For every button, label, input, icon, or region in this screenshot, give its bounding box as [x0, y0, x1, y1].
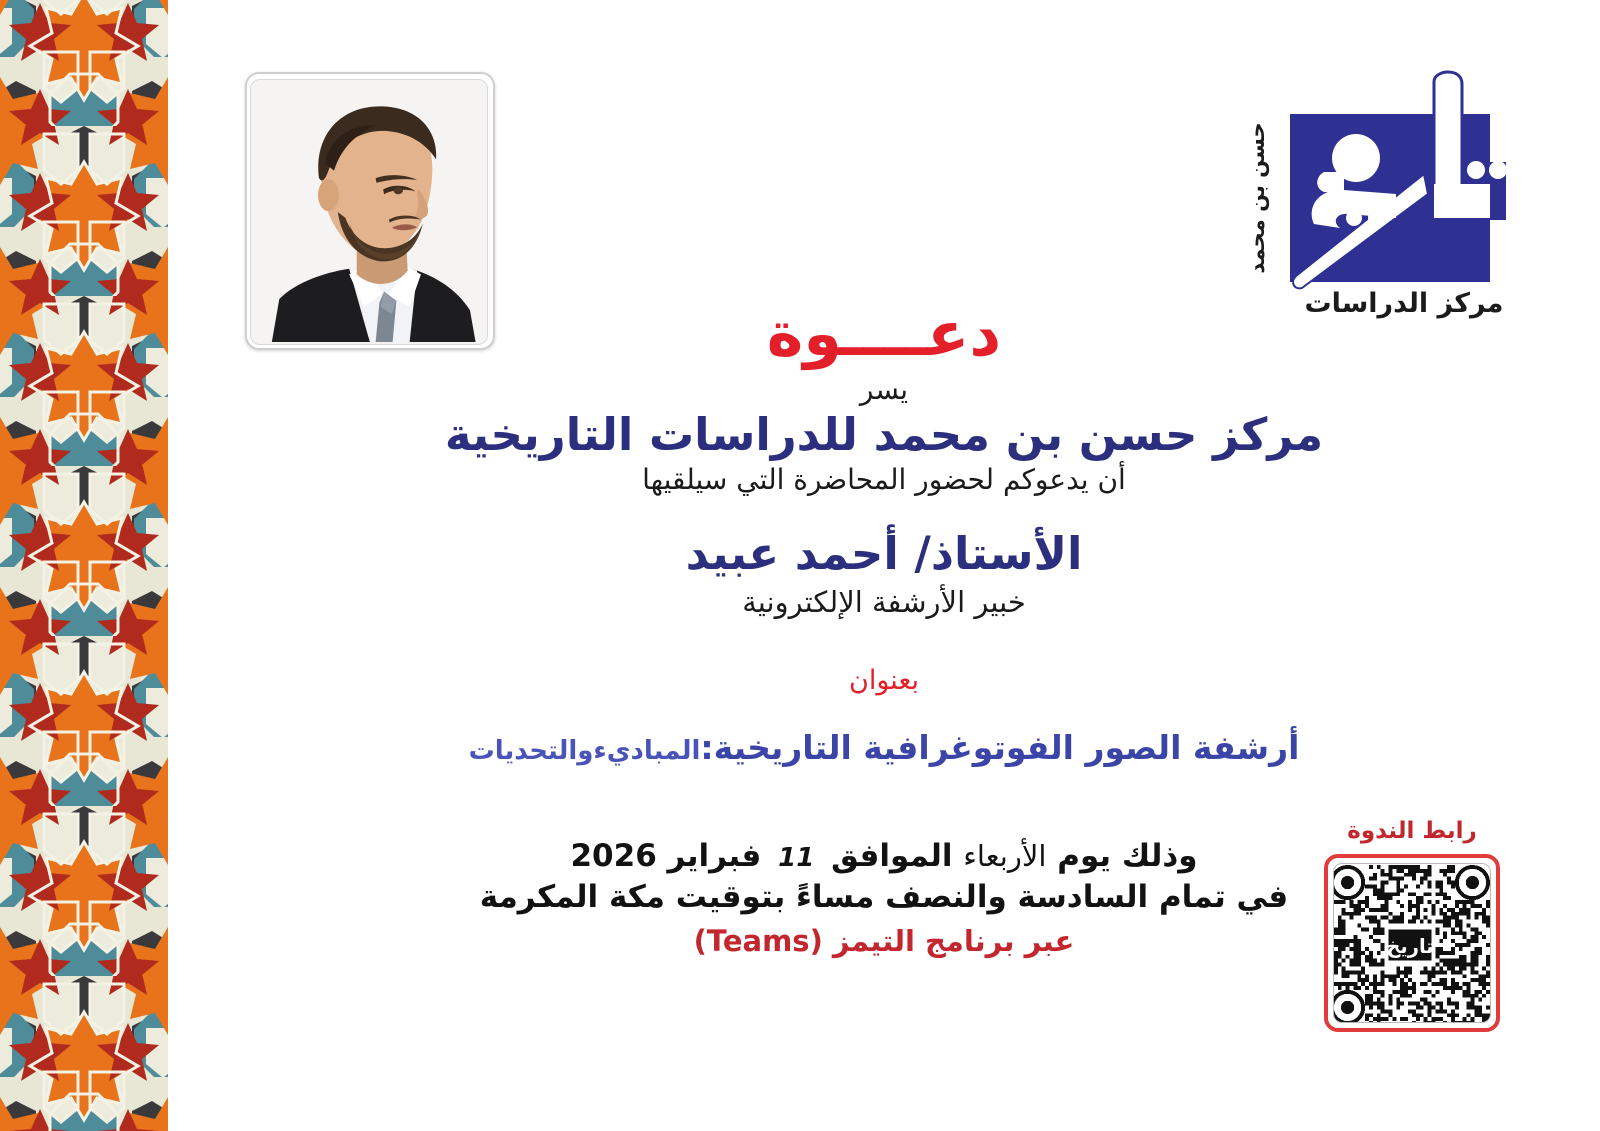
seminar-link-panel: رابط الندوة تاريخ — [1312, 818, 1512, 1032]
lecture-title-subtitle: المباديءوالتحديات — [469, 736, 701, 766]
date-prefix: وذلك يوم — [1057, 838, 1197, 874]
lecture-title: أرشفة الصور الفوتوغرافية التاريخية:المبا… — [168, 730, 1600, 767]
logo-svg: حسن بن محمد مركز الدراسات — [1228, 66, 1528, 326]
event-weekday: الأربعاء — [963, 839, 1046, 873]
organization-logo: حسن بن محمد مركز الدراسات — [1228, 66, 1528, 326]
decorative-pattern-border — [0, 0, 168, 1131]
invitation-sentence: أن يدعوكم لحضور المحاضرة التي سيلقيها — [168, 464, 1600, 495]
event-month-year: فبراير 2026 — [570, 838, 761, 874]
speaker-role: خبير الأرشفة الإلكترونية — [168, 586, 1600, 618]
lead-word: يسر — [168, 374, 1600, 405]
qr-code-frame[interactable]: تاريخ — [1324, 854, 1500, 1032]
logo-vertical-text: حسن بن محمد — [1245, 122, 1269, 273]
islamic-tile-pattern-svg — [0, 0, 168, 1131]
qr-caption: رابط الندوة — [1312, 818, 1512, 844]
qr-code-inner-border: تاريخ — [1333, 863, 1491, 1023]
qr-code-image[interactable]: تاريخ — [1333, 864, 1490, 1023]
date-connector: الموافق — [831, 838, 952, 874]
lecture-title-main: أرشفة الصور الفوتوغرافية التاريخية: — [700, 728, 1299, 767]
event-day-number: 11 — [772, 843, 820, 873]
organization-name: مركز حسن بن محمد للدراسات التاريخية — [168, 410, 1600, 460]
page-title: دعــــوة — [168, 300, 1600, 368]
titled-label: بعنوان — [168, 666, 1600, 696]
qr-center-logo-text: تاريخ — [1386, 935, 1433, 958]
speaker-name: الأستاذ/ أحمد عبيد — [168, 529, 1600, 579]
